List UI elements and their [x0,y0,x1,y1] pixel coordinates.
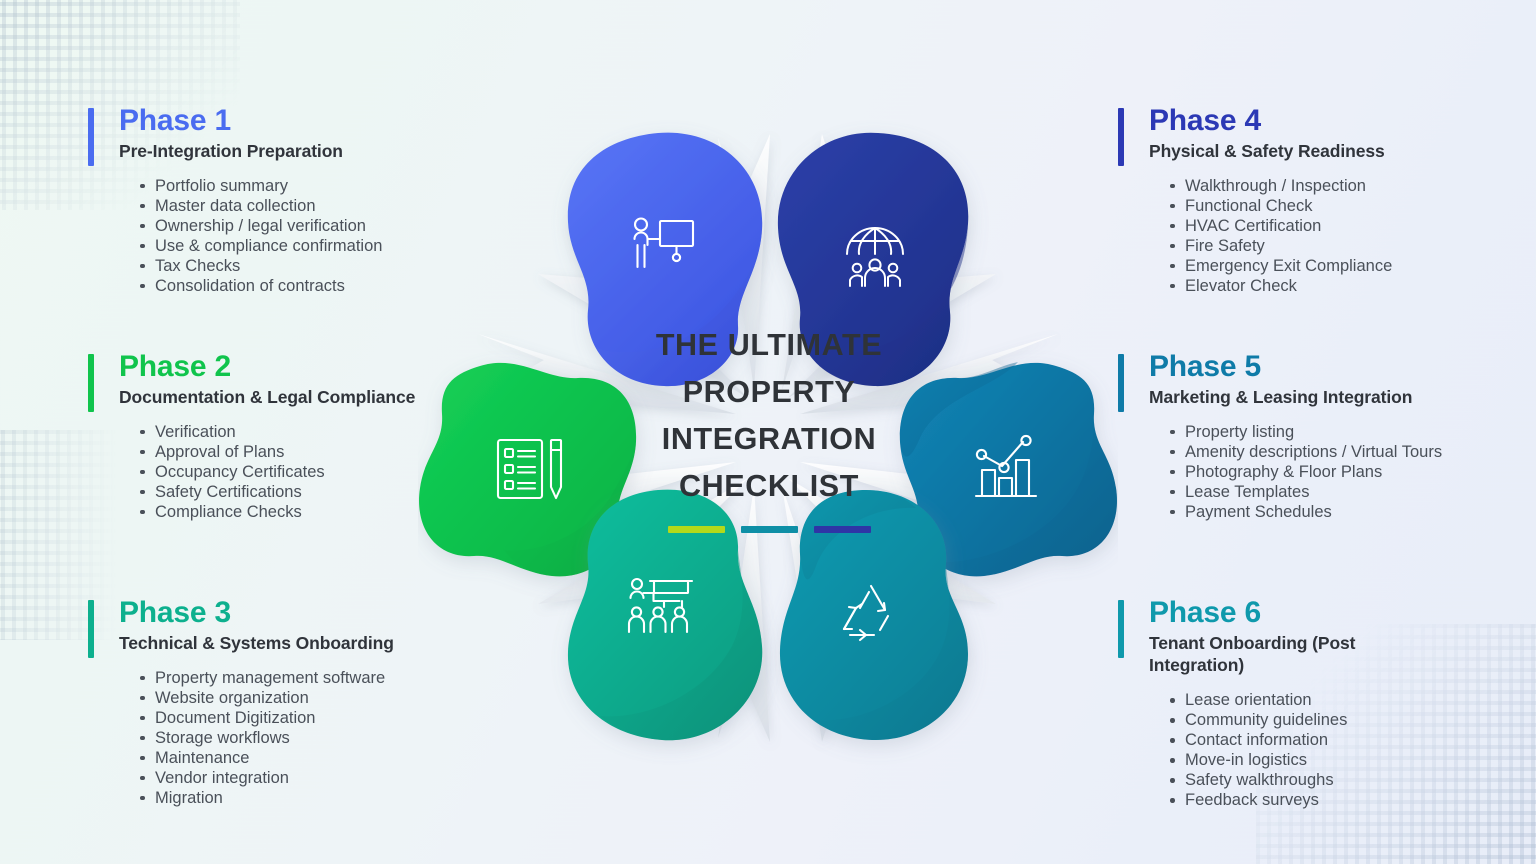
phase-block-6: Phase 6 Tenant Onboarding (Post Integrat… [1118,596,1536,810]
phase-4-title: Phase 4 [1149,104,1536,138]
list-item: Migration [155,788,518,808]
list-item: Feedback surveys [1185,790,1536,810]
phase-6-head: Phase 6 Tenant Onboarding (Post Integrat… [1118,596,1536,676]
right-column: Phase 4 Physical & Safety Readiness Walk… [1118,0,1536,864]
list-item: Master data collection [155,196,518,216]
phase-5-head: Phase 5 Marketing & Leasing Integration [1118,350,1536,408]
list-item: Elevator Check [1185,276,1536,296]
list-item: Use & compliance confirmation [155,236,518,256]
phase-5-list: Property listing Amenity descriptions / … [1118,422,1536,522]
list-item: Lease orientation [1185,690,1536,710]
phase-block-1: Phase 1 Pre-Integration Preparation Port… [88,104,518,296]
list-item: Maintenance [155,748,518,768]
list-item: Functional Check [1185,196,1536,216]
phase-4-list: Walkthrough / Inspection Functional Chec… [1118,176,1536,296]
list-item: Portfolio summary [155,176,518,196]
list-item: Approval of Plans [155,442,518,462]
list-item: Contact information [1185,730,1536,750]
phase-6-title: Phase 6 [1149,596,1536,630]
phase-3-head: Phase 3 Technical & Systems Onboarding [88,596,518,654]
phase-1-subtitle: Pre-Integration Preparation [119,140,518,162]
phase-2-accent-bar [88,354,94,412]
list-item: Emergency Exit Compliance [1185,256,1536,276]
list-item: HVAC Certification [1185,216,1536,236]
phase-2-head: Phase 2 Documentation & Legal Compliance [88,350,518,408]
phase-block-2: Phase 2 Documentation & Legal Compliance… [88,350,518,522]
phase-3-title: Phase 3 [119,596,518,630]
radial-wheel [418,98,1118,778]
list-item: Property management software [155,668,518,688]
list-item: Payment Schedules [1185,502,1536,522]
phase-6-accent-bar [1118,600,1124,658]
list-item: Safety walkthroughs [1185,770,1536,790]
list-item: Compliance Checks [155,502,518,522]
list-item: Document Digitization [155,708,518,728]
phase-4-subtitle: Physical & Safety Readiness [1149,140,1536,162]
phase-1-list: Portfolio summary Master data collection… [88,176,518,296]
list-item: Vendor integration [155,768,518,788]
list-item: Website organization [155,688,518,708]
phase-1-accent-bar [88,108,94,166]
list-item: Occupancy Certificates [155,462,518,482]
list-item: Consolidation of contracts [155,276,518,296]
phase-3-accent-bar [88,600,94,658]
phase-3-subtitle: Technical & Systems Onboarding [119,632,518,654]
phase-6-list: Lease orientation Community guidelines C… [1118,690,1536,810]
phase-5-subtitle: Marketing & Leasing Integration [1149,386,1536,408]
phase-2-subtitle: Documentation & Legal Compliance [119,386,518,408]
phase-block-4: Phase 4 Physical & Safety Readiness Walk… [1118,104,1536,296]
list-item: Verification [155,422,518,442]
phase-2-list: Verification Approval of Plans Occupancy… [88,422,518,522]
phase-5-title: Phase 5 [1149,350,1536,384]
list-item: Amenity descriptions / Virtual Tours [1185,442,1536,462]
list-item: Walkthrough / Inspection [1185,176,1536,196]
phase-1-title: Phase 1 [119,104,518,138]
blob-phase-3 [568,490,762,741]
list-item: Property listing [1185,422,1536,442]
phase-6-subtitle: Tenant Onboarding (Post Integration) [1149,632,1414,677]
phase-3-list: Property management software Website org… [88,668,518,808]
list-item: Tax Checks [155,256,518,276]
phase-4-accent-bar [1118,108,1124,166]
phase-5-accent-bar [1118,354,1124,412]
blob-phase-1 [568,133,762,387]
list-item: Fire Safety [1185,236,1536,256]
list-item: Storage workflows [155,728,518,748]
list-item: Move-in logistics [1185,750,1536,770]
list-item: Ownership / legal verification [155,216,518,236]
list-item: Photography & Floor Plans [1185,462,1536,482]
list-item: Lease Templates [1185,482,1536,502]
left-column: Phase 1 Pre-Integration Preparation Port… [88,0,518,864]
list-item: Safety Certifications [155,482,518,502]
phase-block-5: Phase 5 Marketing & Leasing Integration … [1118,350,1536,522]
phase-1-head: Phase 1 Pre-Integration Preparation [88,104,518,162]
phase-block-3: Phase 3 Technical & Systems Onboarding P… [88,596,518,808]
phase-4-head: Phase 4 Physical & Safety Readiness [1118,104,1536,162]
list-item: Community guidelines [1185,710,1536,730]
phase-2-title: Phase 2 [119,350,518,384]
